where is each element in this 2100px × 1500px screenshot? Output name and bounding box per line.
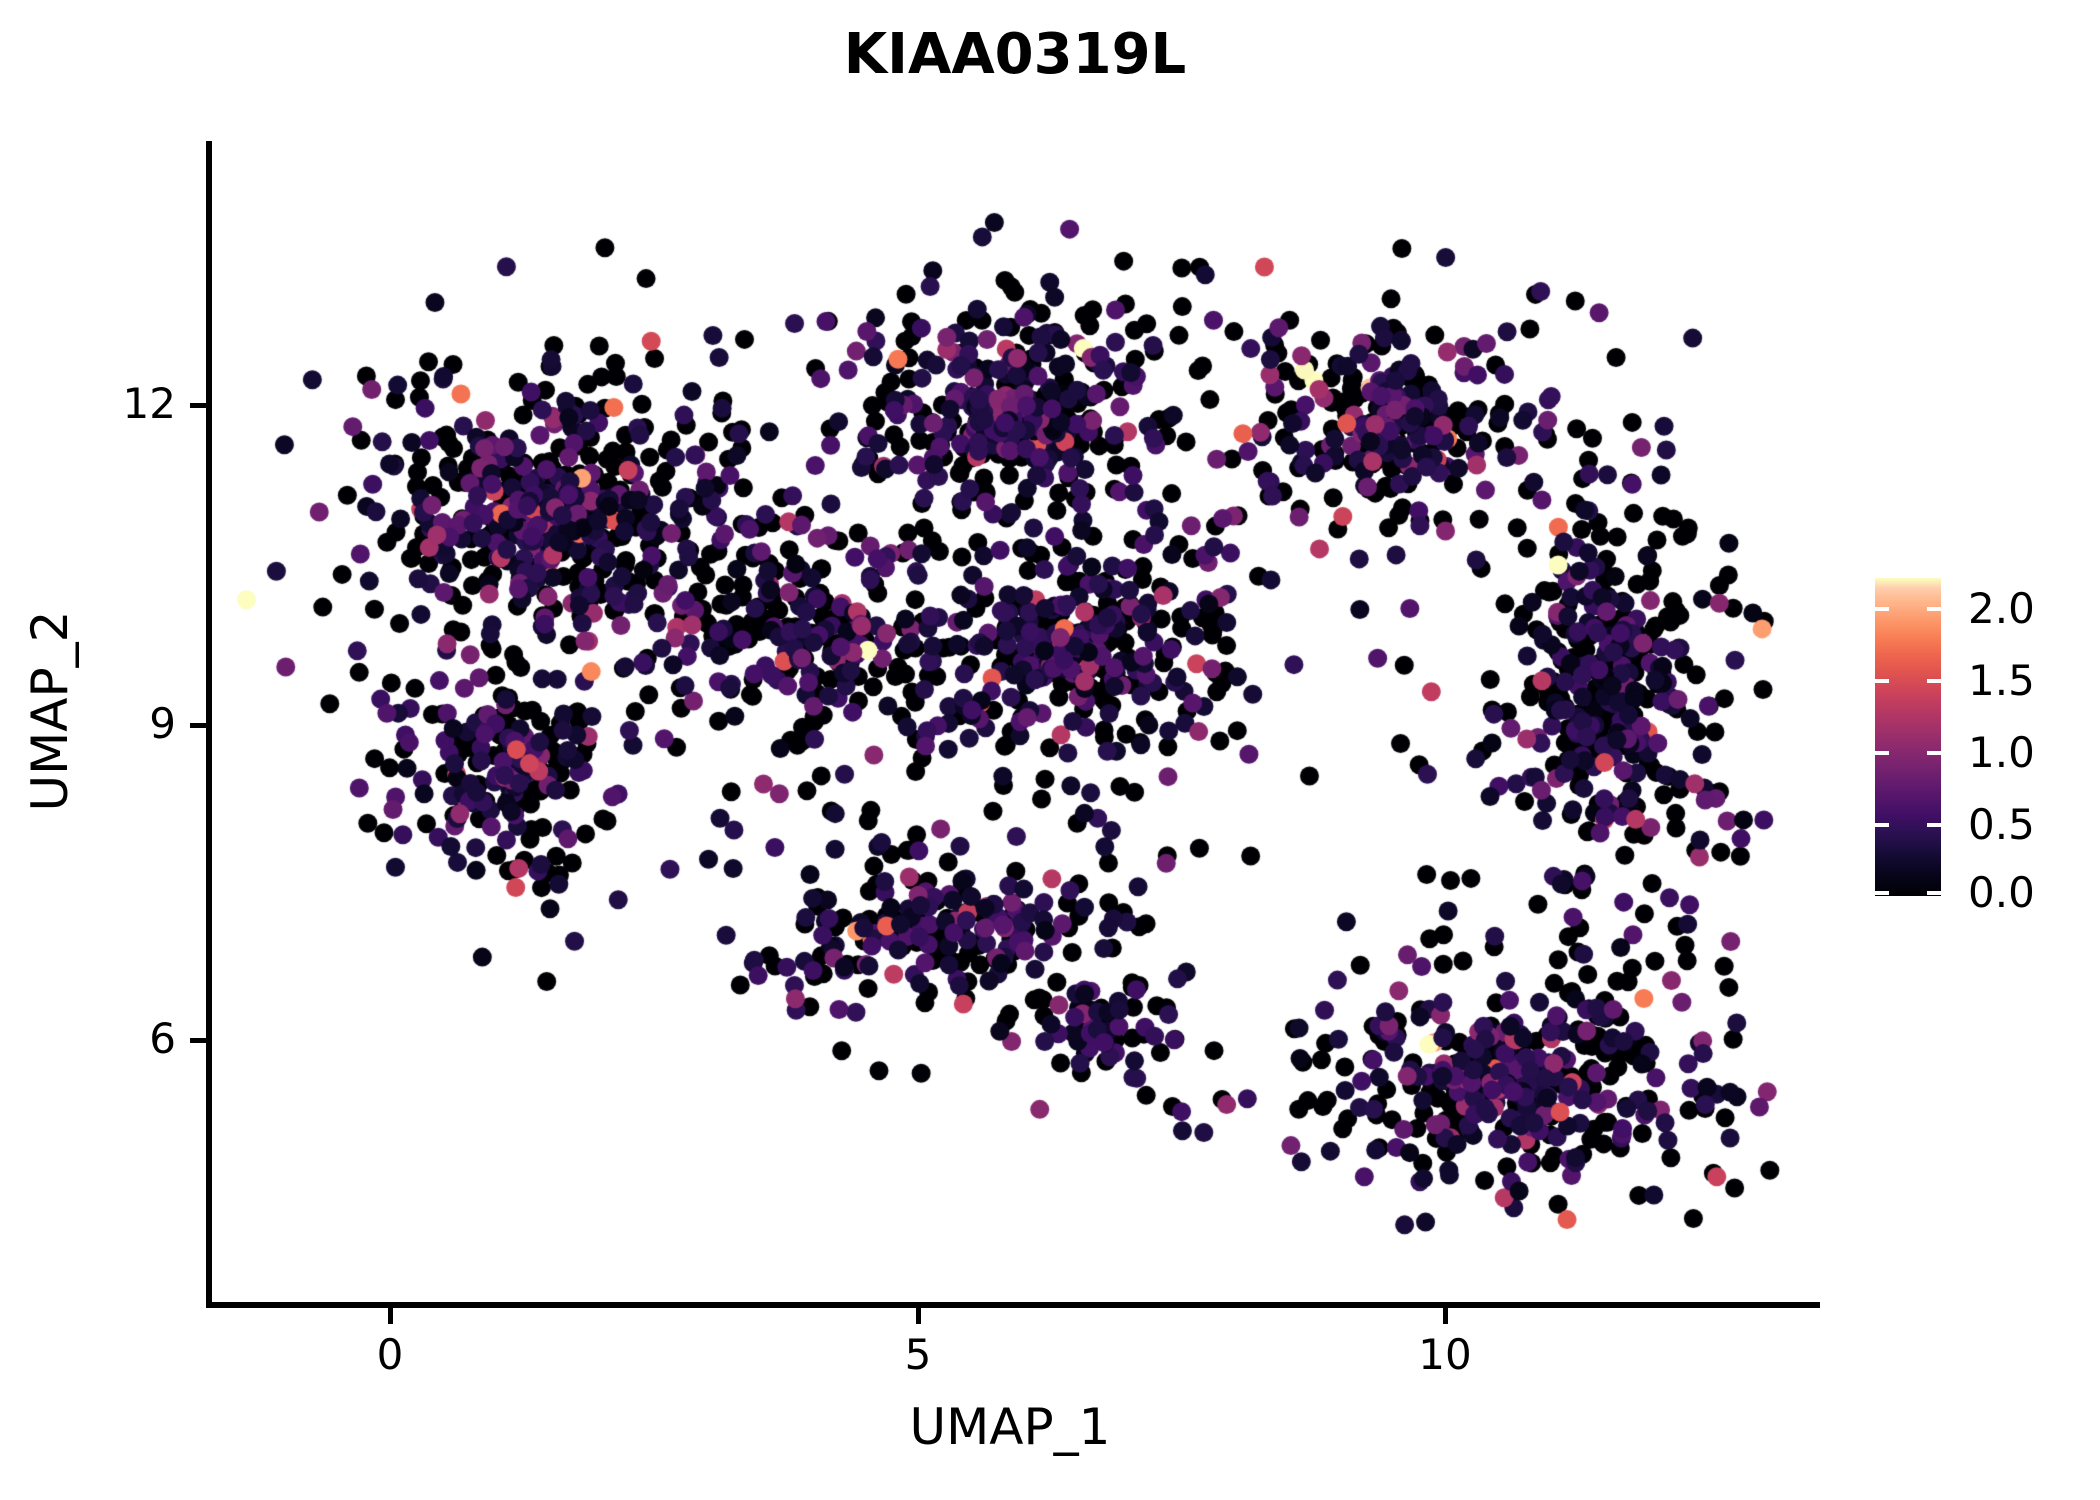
colorbar-tick-0.0-right [1927,891,1941,895]
colorbar-tick-0.5-left [1875,823,1889,827]
colorbar-label-1.0: 1.0 [1968,728,2035,777]
colorbar-label-0.5: 0.5 [1968,800,2035,849]
page-title: KIAA0319L [0,22,2065,87]
colorbar-tick-1.5-left [1875,679,1889,683]
colorbar-tick-2.0-right [1927,607,1941,611]
scatter-plot-area[interactable] [210,141,1820,1305]
colorbar-tick-1.0-left [1875,751,1889,755]
colorbar-label-2.0: 2.0 [1968,584,2035,633]
colorbar[interactable] [1875,578,1941,896]
colorbar-tick-1.5-right [1927,679,1941,683]
y-tick-mark-9 [190,723,206,728]
figure-canvas: KIAA0319L 12 9 6 0 5 10 UMAP_1 UMAP_2 2.… [0,0,2100,1500]
scatter-points-canvas[interactable] [210,141,1820,1305]
colorbar-tick-0.0-left [1875,891,1889,895]
x-tick-label-10: 10 [1365,1330,1525,1379]
colorbar-gradient [1875,578,1941,896]
x-axis-label: UMAP_1 [0,1398,2060,1456]
x-tick-mark-5 [916,1308,921,1324]
colorbar-label-0.0: 0.0 [1968,868,2035,917]
colorbar-label-1.5: 1.5 [1968,656,2035,705]
x-axis-spine [206,1302,1820,1308]
x-tick-label-5: 5 [838,1330,998,1379]
colorbar-tick-2.0-left [1875,607,1889,611]
y-axis-label: UMAP_2 [21,361,79,1061]
colorbar-tick-1.0-right [1927,751,1941,755]
y-tick-mark-6 [190,1038,206,1043]
colorbar-tick-0.5-right [1927,823,1941,827]
x-tick-label-0: 0 [310,1330,470,1379]
x-tick-mark-0 [388,1308,393,1324]
y-axis-spine [206,141,212,1308]
x-tick-mark-10 [1443,1308,1448,1324]
y-tick-mark-12 [190,403,206,408]
